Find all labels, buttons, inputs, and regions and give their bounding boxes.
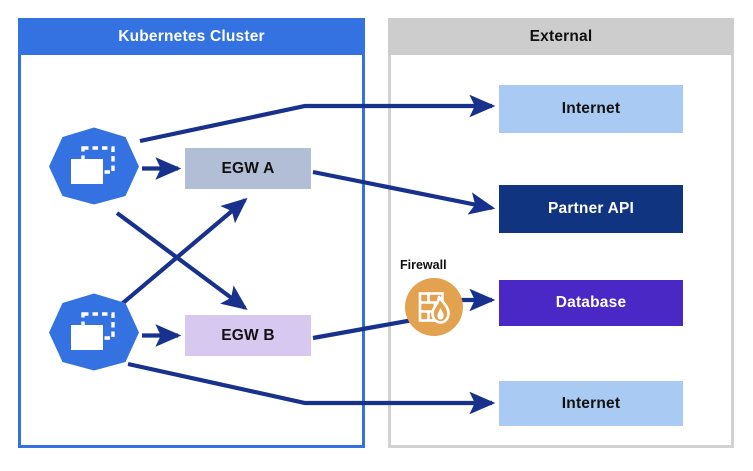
- diagram-canvas: Kubernetes Cluster External EGW A EGW B …: [0, 0, 753, 471]
- node-egw-a[interactable]: EGW A: [185, 148, 311, 189]
- kubernetes-pod-icon: [47, 126, 141, 206]
- node-database[interactable]: Database: [499, 280, 683, 326]
- firewall-icon: [405, 278, 463, 336]
- node-partner-api[interactable]: Partner API: [499, 185, 683, 233]
- node-internet-top[interactable]: Internet: [499, 85, 683, 133]
- panel-title-external: External: [388, 18, 734, 55]
- node-internet-bottom[interactable]: Internet: [499, 381, 683, 426]
- panel-kubernetes-cluster: Kubernetes Cluster: [18, 18, 365, 448]
- panel-title-kubernetes-cluster: Kubernetes Cluster: [18, 18, 365, 55]
- kubernetes-pod-icon: [47, 292, 141, 372]
- firewall-label: Firewall: [400, 258, 447, 272]
- node-egw-b[interactable]: EGW B: [185, 315, 311, 356]
